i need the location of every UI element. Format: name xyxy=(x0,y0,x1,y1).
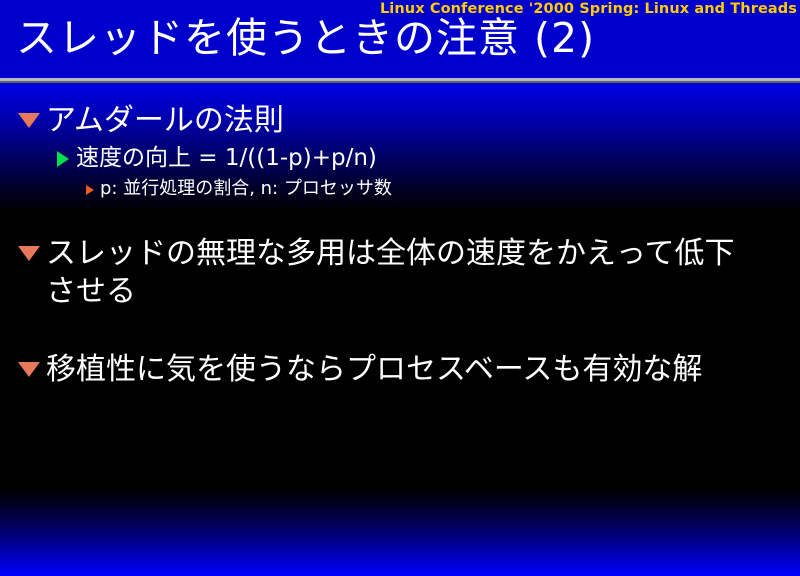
spacer xyxy=(0,311,800,351)
bullet-item-level3: p: 並行処理の割合, n: プロセッサ数 xyxy=(86,177,800,201)
slide-title: スレッドを使うときの注意 (2) xyxy=(16,14,595,62)
triangle-down-icon xyxy=(18,113,40,128)
triangle-right-icon xyxy=(57,151,69,167)
triangle-right-small-icon xyxy=(86,185,94,195)
bullet-text: アムダールの法則 xyxy=(46,102,284,140)
bullet-item-level1: スレッドの無理な多用は全体の速度をかえって低下させる xyxy=(18,235,800,311)
bullet-text: p: 並行処理の割合, n: プロセッサ数 xyxy=(100,177,392,201)
header-divider-dark xyxy=(0,81,800,83)
bullet-item-level1: 移植性に気を使うならプロセスベースも有効な解 xyxy=(18,351,800,389)
bullet-text: 移植性に気を使うならプロセスベースも有効な解 xyxy=(46,351,702,389)
bullet-text: 速度の向上 = 1/((1-p)+p/n) xyxy=(76,143,377,174)
bullet-text: スレッドの無理な多用は全体の速度をかえって低下させる xyxy=(46,235,746,311)
bullet-item-level1: アムダールの法則 xyxy=(18,102,800,140)
presentation-slide: Linux Conference '2000 Spring: Linux and… xyxy=(0,0,800,576)
triangle-down-icon xyxy=(18,246,40,261)
background-gradient-bottom xyxy=(0,488,800,576)
bullet-item-level2: 速度の向上 = 1/((1-p)+p/n) xyxy=(57,143,800,174)
spacer xyxy=(0,201,800,235)
slide-body: アムダールの法則 速度の向上 = 1/((1-p)+p/n) p: 並行処理の割… xyxy=(0,86,800,496)
triangle-down-icon xyxy=(18,362,40,377)
